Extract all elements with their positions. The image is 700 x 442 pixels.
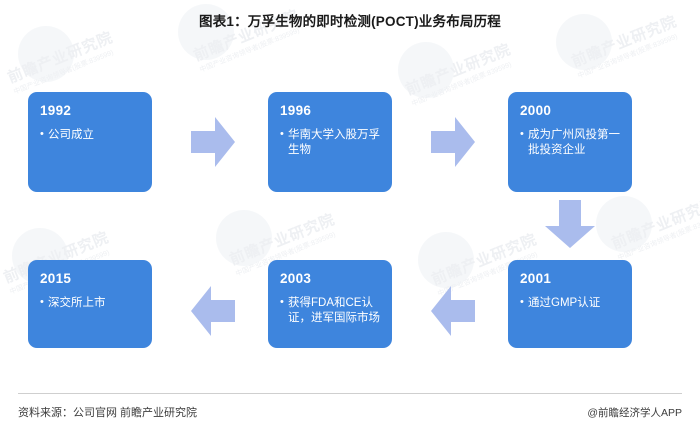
node-year: 2015	[40, 272, 141, 287]
node-year: 2003	[280, 272, 381, 287]
chart-title: 图表1：万孚生物的即时检测(POCT)业务布局历程	[0, 10, 700, 31]
timeline-node-2003[interactable]: 2003 获得FDA和CE认证，进军国际市场	[268, 260, 392, 348]
timeline-node-2001[interactable]: 2001 通过GMP认证	[508, 260, 632, 348]
footer-source-text: 资料来源：公司官网 前瞻产业研究院	[18, 404, 197, 420]
arrow-right-icon	[191, 117, 235, 167]
arrow-right-icon	[431, 117, 475, 167]
arrow-down-icon	[545, 200, 595, 248]
node-description: 华南大学入股万孚生物	[280, 128, 381, 157]
arrow-left-icon	[431, 286, 475, 336]
node-description: 获得FDA和CE认证，进军国际市场	[280, 296, 381, 325]
node-year: 2001	[520, 272, 621, 287]
node-description: 公司成立	[40, 128, 141, 143]
footer-brand-text: @前瞻经济学人APP	[587, 405, 682, 420]
timeline-node-2000[interactable]: 2000 成为广州风投第一批投资企业	[508, 92, 632, 192]
timeline-diagram: 1992 公司成立 1996 华南大学入股万孚生物 2000 成为广州风投第一批…	[0, 0, 700, 442]
node-year: 1992	[40, 104, 141, 119]
node-description: 深交所上市	[40, 296, 141, 311]
timeline-node-2015[interactable]: 2015 深交所上市	[28, 260, 152, 348]
node-year: 2000	[520, 104, 621, 119]
chart-title-text: 图表1：万孚生物的即时检测(POCT)业务布局历程	[199, 14, 501, 29]
timeline-node-1992[interactable]: 1992 公司成立	[28, 92, 152, 192]
node-description: 成为广州风投第一批投资企业	[520, 128, 621, 157]
footer: 资料来源：公司官网 前瞻产业研究院 @前瞻经济学人APP	[18, 404, 682, 420]
arrow-left-icon	[191, 286, 235, 336]
footer-divider	[18, 393, 682, 394]
node-year: 1996	[280, 104, 381, 119]
node-description: 通过GMP认证	[520, 296, 621, 311]
timeline-node-1996[interactable]: 1996 华南大学入股万孚生物	[268, 92, 392, 192]
